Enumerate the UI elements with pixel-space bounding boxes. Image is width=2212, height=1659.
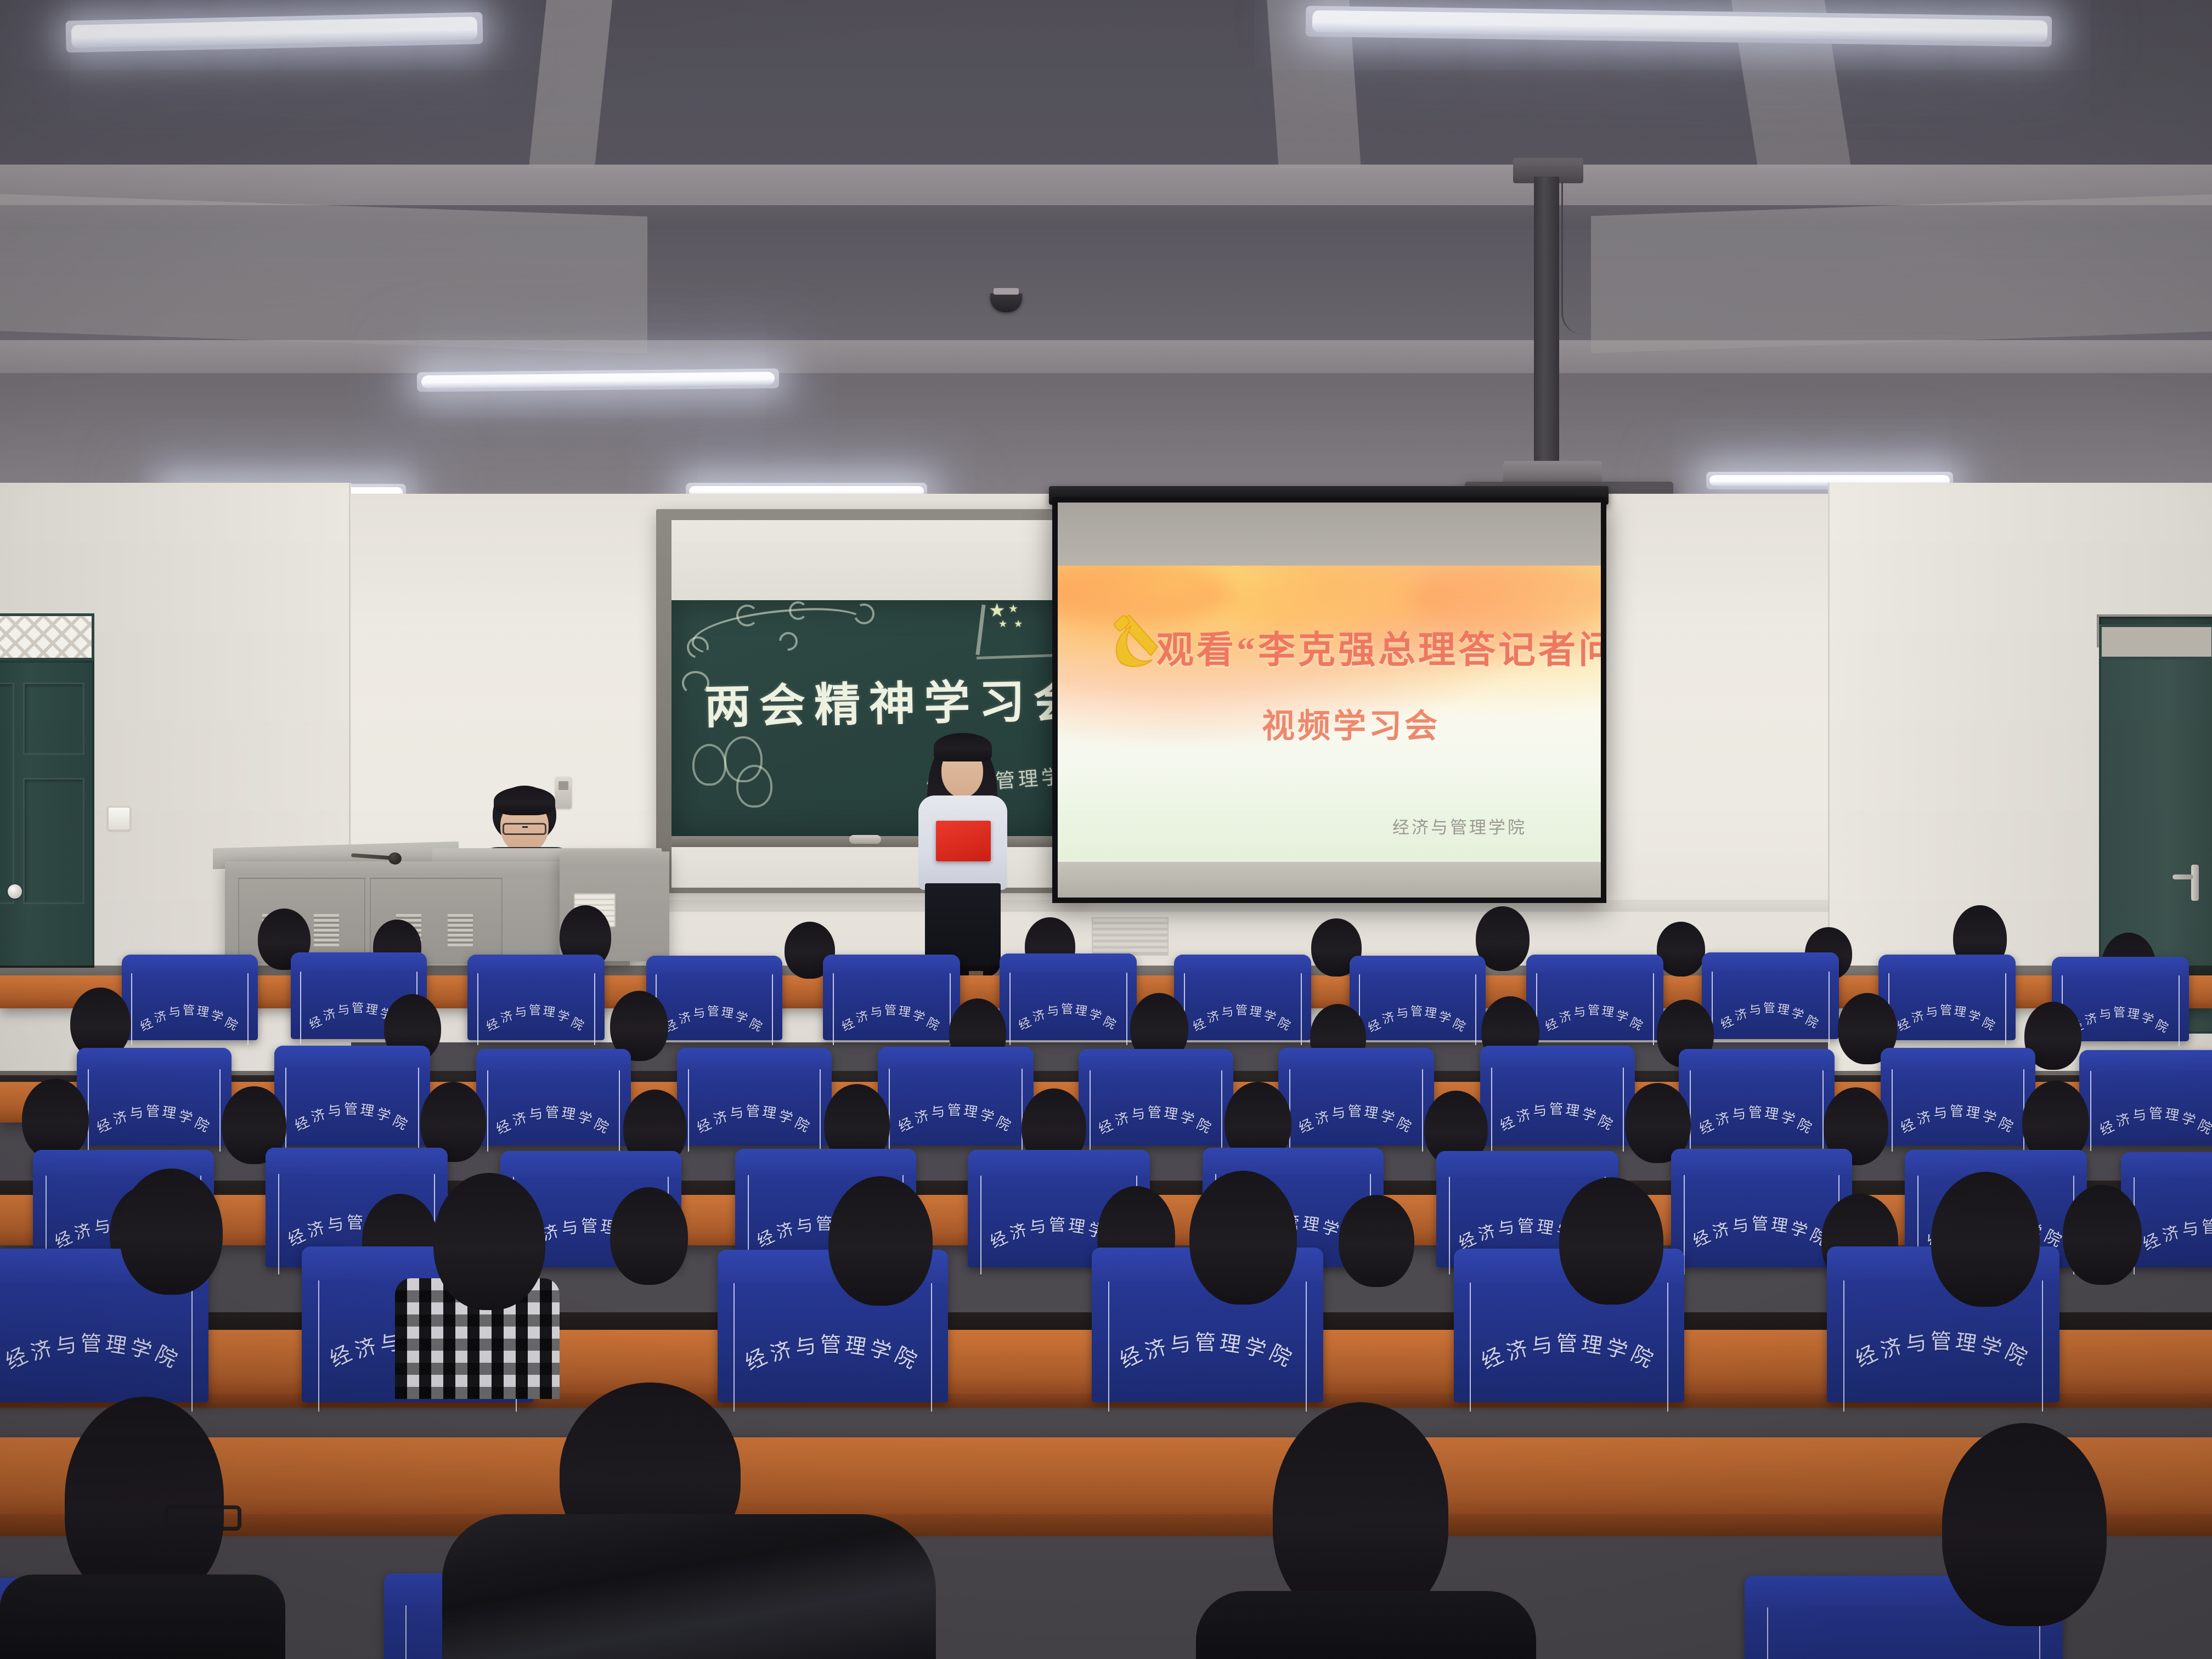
projector-cable (1561, 181, 1584, 335)
chair-r3-10[interactable]: 经济与管理学院 (1881, 1048, 2035, 1145)
row-6-desk-edge (0, 1514, 2212, 1536)
head-r5-a (120, 1169, 223, 1295)
chair-headrest (968, 1150, 1150, 1176)
head-r4-i (2063, 1185, 2142, 1285)
torso-fg-right (1196, 1591, 1536, 1659)
chair-headrest (1881, 1048, 2035, 1069)
projection-screen: 观看“李克强总理答记者问” 视频学习会 经济与管理学院 (1058, 503, 1601, 898)
chair-label: 经济与管理学院 (0, 1327, 208, 1357)
ceiling-beam-front (0, 165, 2212, 205)
ceiling-beam-mid (0, 340, 2212, 373)
chair-headrest (1526, 955, 1663, 973)
chair-headrest (735, 1149, 916, 1175)
podium-louver-2 (314, 914, 339, 947)
chair-headrest (266, 1148, 448, 1174)
host-glasses-bridge (522, 826, 528, 828)
chair-label: 经济与管理学院 (1278, 1101, 1434, 1120)
chalk-star-big: ★ (989, 601, 1005, 620)
chair-headrest (1174, 955, 1311, 973)
chair-headrest (2121, 1152, 2212, 1177)
chair-label: 经济与管理学院 (1350, 1002, 1486, 1019)
chair-label: 经济与管理学院 (823, 1001, 960, 1018)
chalk-star-small-3: ★ (1014, 619, 1023, 629)
chair-r2-9[interactable]: 经济与管理学院 (1526, 955, 1663, 1040)
chair-label: 经济与管理学院 (1480, 1098, 1635, 1118)
chair-headrest (476, 1049, 631, 1070)
chair-r2-10[interactable]: 经济与管理学院 (1702, 952, 1839, 1039)
chair-r3-8[interactable]: 经济与管理学院 (1480, 1046, 1635, 1145)
chair-label: 经济与管理学院 (1174, 1001, 1311, 1018)
chair-label: 经济与管理学院 (1881, 1101, 2035, 1120)
chair-r2-1[interactable]: 经济与管理学院 (122, 955, 258, 1040)
chair-headrest (291, 952, 427, 972)
right-door-transom (2099, 624, 2212, 659)
presenter (902, 730, 1023, 971)
slide-organization: 经济与管理学院 (1392, 814, 1527, 838)
chair-headrest (77, 1048, 232, 1069)
lecture-hall-photo: ★ ★ ★ ★ 两会精神学习会 经济与管理学院 (0, 0, 2212, 1659)
chalk-star-small-1: ★ (1008, 603, 1018, 614)
head-r3-a (22, 1079, 89, 1160)
chair-label: 经济与管理学院 (274, 1098, 430, 1118)
chair-r2-6[interactable]: 经济与管理学院 (1000, 953, 1137, 1040)
chair-label: 经济与管理学院 (122, 1001, 258, 1018)
chair-headrest (1480, 1046, 1635, 1068)
head-r1-h (1657, 922, 1705, 977)
chair-label: 经济与管理学院 (1526, 1001, 1663, 1018)
chair-label: 经济与管理学院 (467, 1001, 605, 1018)
chair-r3-11[interactable]: 经济与管理学院 (2079, 1050, 2212, 1145)
chair-r3-9[interactable]: 经济与管理学院 (1679, 1049, 1835, 1145)
slide-subtitle: 视频学习会 (1262, 699, 1440, 747)
presenter-red-folder (936, 821, 991, 861)
chair-label: 经济与管理学院 (1454, 1327, 1684, 1357)
chair-label: 经济与管理学院 (1878, 1001, 2016, 1018)
chair-headrest (1702, 952, 1839, 972)
chair-r3-2[interactable]: 经济与管理学院 (274, 1046, 430, 1145)
chair-label: 经济与管理学院 (1702, 998, 1839, 1016)
chair-headrest (1079, 1049, 1233, 1070)
blackboard-upper-white (672, 520, 1069, 600)
chair-label: 经济与管理学院 (677, 1101, 832, 1120)
host-glasses-icon (503, 823, 546, 835)
door-handle-icon[interactable] (2191, 865, 2199, 901)
presenter-fringe (934, 733, 992, 761)
chair-label: 经济与管理学院 (1679, 1102, 1835, 1121)
chair-headrest (1350, 956, 1486, 974)
screen-bottom-margin (1058, 862, 1601, 898)
chair-label: 经济与管理学院 (1079, 1102, 1233, 1121)
wall-vent-icon (1092, 917, 1169, 956)
glasses-fg-left-icon (165, 1505, 241, 1531)
chair-r3-3[interactable]: 经济与管理学院 (476, 1049, 631, 1145)
transom-lattice-grille (0, 616, 92, 658)
chair-r2-3[interactable]: 经济与管理学院 (467, 955, 605, 1040)
slide-title: 观看“李克强总理答记者问” (1156, 619, 1601, 674)
chair-headrest (878, 1047, 1034, 1069)
ceiling-panel-left (0, 194, 647, 353)
chair-headrest (1203, 1148, 1384, 1174)
left-door-transom (0, 613, 94, 661)
torso-fg-center-jacket (442, 1514, 936, 1659)
chair-headrest (467, 955, 605, 973)
chair-r3-1[interactable]: 经济与管理学院 (77, 1048, 232, 1145)
chair-headrest (274, 1046, 430, 1068)
screen-top-margin (1058, 503, 1601, 566)
chalk-tray-clip (849, 835, 881, 844)
chair-label: 经济与管理学院 (476, 1102, 631, 1121)
head-r5-f (1931, 1172, 2040, 1307)
chair-r2-11[interactable]: 经济与管理学院 (1878, 955, 2016, 1040)
head-r4-f (1339, 1195, 1414, 1287)
chair-r3-6[interactable]: 经济与管理学院 (1079, 1049, 1233, 1145)
chalk-flagpole (975, 605, 985, 655)
head-fg-left (65, 1397, 224, 1600)
chair-label: 经济与管理学院 (2079, 1103, 2212, 1122)
head-r5-b (433, 1173, 545, 1310)
chair-headrest (2079, 1050, 2212, 1071)
chair-headrest (823, 955, 960, 973)
chair-label: 经济与管理学院 (718, 1328, 948, 1358)
light-switch[interactable] (108, 806, 131, 831)
chair-headrest (500, 1151, 681, 1177)
chair-label: 经济与管理学院 (1092, 1325, 1323, 1356)
door-panel-top (23, 682, 84, 755)
podium-louver-4 (448, 914, 473, 947)
chalk-star-small-2: ★ (998, 619, 1007, 629)
chair-headrest (1278, 1048, 1434, 1069)
head-fg-far-right (1942, 1423, 2107, 1626)
chair-r3-7[interactable]: 经济与管理学院 (1278, 1048, 1434, 1145)
door-panel-bottom (23, 778, 84, 904)
chair-r2-8[interactable]: 经济与管理学院 (1350, 956, 1486, 1040)
chalk-balloon-1 (692, 744, 726, 786)
ceiling-panel-right (1591, 194, 2212, 353)
row-6-desk (0, 1437, 2212, 1520)
chair-headrest (1671, 1149, 1852, 1175)
host-fringe (494, 787, 555, 815)
door-knob-icon[interactable] (8, 884, 22, 899)
blackboard-title: 两会精神学习会 (704, 664, 1089, 737)
chair-headrest (1905, 1150, 2087, 1176)
chair-headrest (646, 956, 782, 974)
projector-pole (1534, 177, 1559, 467)
head-r4-c (610, 1187, 688, 1285)
chalk-curl-1 (736, 605, 758, 627)
door-left[interactable] (0, 661, 94, 968)
chair-headrest (1000, 953, 1137, 973)
head-r5-d (1189, 1171, 1297, 1305)
chair-r3-5[interactable]: 经济与管理学院 (878, 1047, 1034, 1145)
head-r5-c (828, 1176, 933, 1306)
chair-headrest (1679, 1049, 1835, 1070)
chair-label: 经济与管理学院 (77, 1101, 232, 1120)
chair-headrest (1436, 1151, 1618, 1177)
door-panel-side (0, 682, 14, 904)
chair-label: 经济与管理学院 (878, 1099, 1034, 1119)
chair-r2-5[interactable]: 经济与管理学院 (823, 955, 960, 1040)
chair-headrest (2052, 957, 2189, 975)
chair-headrest (122, 955, 258, 973)
chalk-vine-decoration (690, 604, 868, 663)
head-r5-e (1559, 1177, 1663, 1305)
head-fg-right (1273, 1402, 1448, 1622)
slide-content: 观看“李克强总理答记者问” 视频学习会 经济与管理学院 (1058, 566, 1601, 862)
chair-headrest (677, 1048, 832, 1069)
chair-r3-4[interactable]: 经济与管理学院 (677, 1048, 832, 1145)
chalk-curl-2 (789, 601, 808, 620)
chair-label: 经济与管理学院 (1827, 1324, 2059, 1355)
chair-label: 经济与管理学院 (1000, 1000, 1137, 1017)
chalk-balloon-3 (736, 765, 772, 808)
torso-fg-left (0, 1575, 285, 1659)
chair-r2-7[interactable]: 经济与管理学院 (1174, 955, 1311, 1040)
chair-headrest (1878, 955, 2016, 973)
